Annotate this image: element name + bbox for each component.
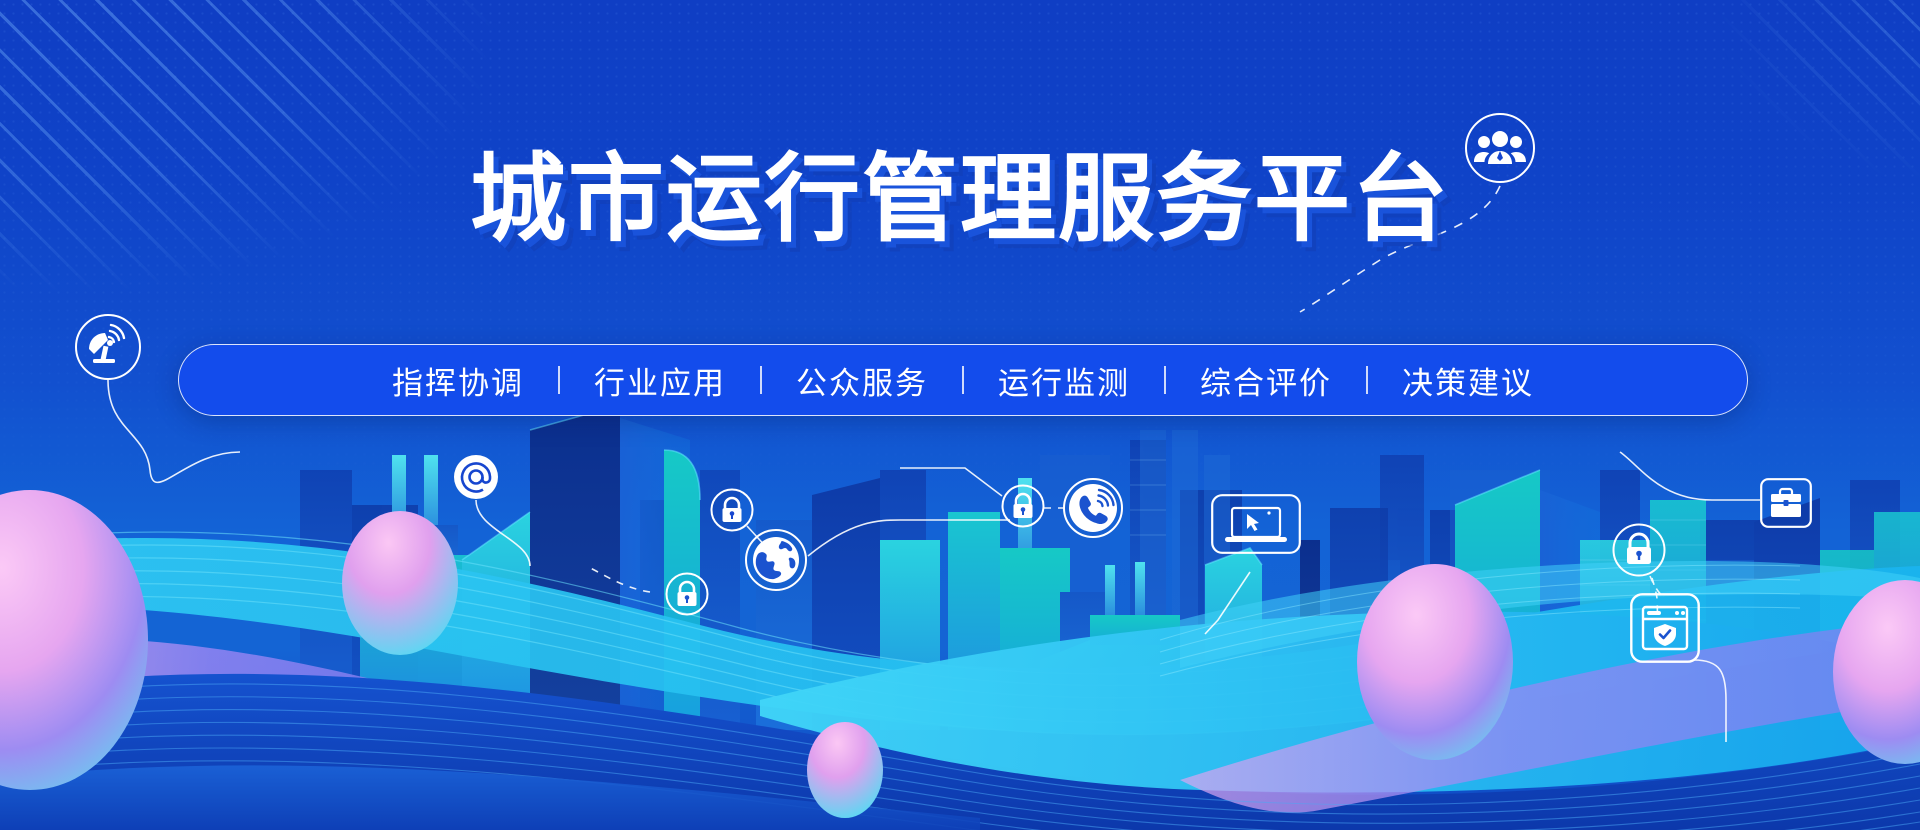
connector-people <box>1300 186 1500 312</box>
nav-item-1[interactable]: 行业应用 <box>560 358 760 403</box>
lock-icon-2[interactable] <box>665 572 709 616</box>
connector-globe-right <box>808 520 1010 556</box>
nav-item-5[interactable]: 决策建议 <box>1368 358 1568 403</box>
nav-item-4[interactable]: 综合评价 <box>1166 358 1366 403</box>
phone-call-icon[interactable] <box>1062 477 1124 539</box>
laptop-icon[interactable] <box>1211 494 1301 554</box>
satellite-dish-icon[interactable] <box>74 313 142 381</box>
connector-at <box>476 500 530 566</box>
connector-browser <box>1694 660 1726 742</box>
browser-shield-icon[interactable] <box>1630 593 1700 663</box>
lock-icon-1[interactable] <box>710 488 754 532</box>
connector-upper-left <box>900 468 1002 496</box>
nav-item-2[interactable]: 公众服务 <box>762 358 962 403</box>
briefcase-icon[interactable] <box>1760 478 1812 528</box>
nav-item-0[interactable]: 指挥协调 <box>358 358 558 403</box>
primary-nav[interactable]: 指挥协调 行业应用 公众服务 运行监测 综合评价 决策建议 <box>178 344 1748 416</box>
people-group-icon[interactable] <box>1464 112 1536 184</box>
connector-laptop <box>1205 572 1250 634</box>
lock-icon-3[interactable] <box>1001 484 1045 528</box>
banner-root: 城市运行管理服务平台 指挥协调 行业应用 公众服务 运行监测 综合评价 决策建议 <box>0 0 1920 830</box>
at-sign-icon[interactable] <box>452 453 500 501</box>
globe-icon[interactable] <box>744 528 808 592</box>
lock-icon-4[interactable] <box>1612 523 1666 577</box>
connector-lock2 <box>586 566 650 592</box>
connector-briefcase <box>1620 452 1760 500</box>
nav-item-3[interactable]: 运行监测 <box>964 358 1164 403</box>
